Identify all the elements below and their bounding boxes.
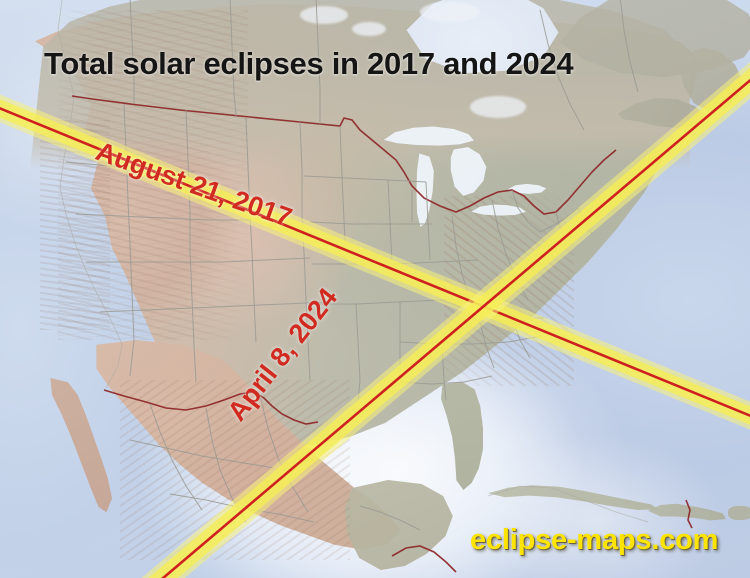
eclipse-paths [0,0,750,578]
page-title: Total solar eclipses in 2017 and 2024 [44,46,573,82]
eclipse-map: Total solar eclipses in 2017 and 2024 Au… [0,0,750,578]
watermark-credit: eclipse-maps.com [470,524,718,557]
eclipse-path-2024 [90,38,750,578]
